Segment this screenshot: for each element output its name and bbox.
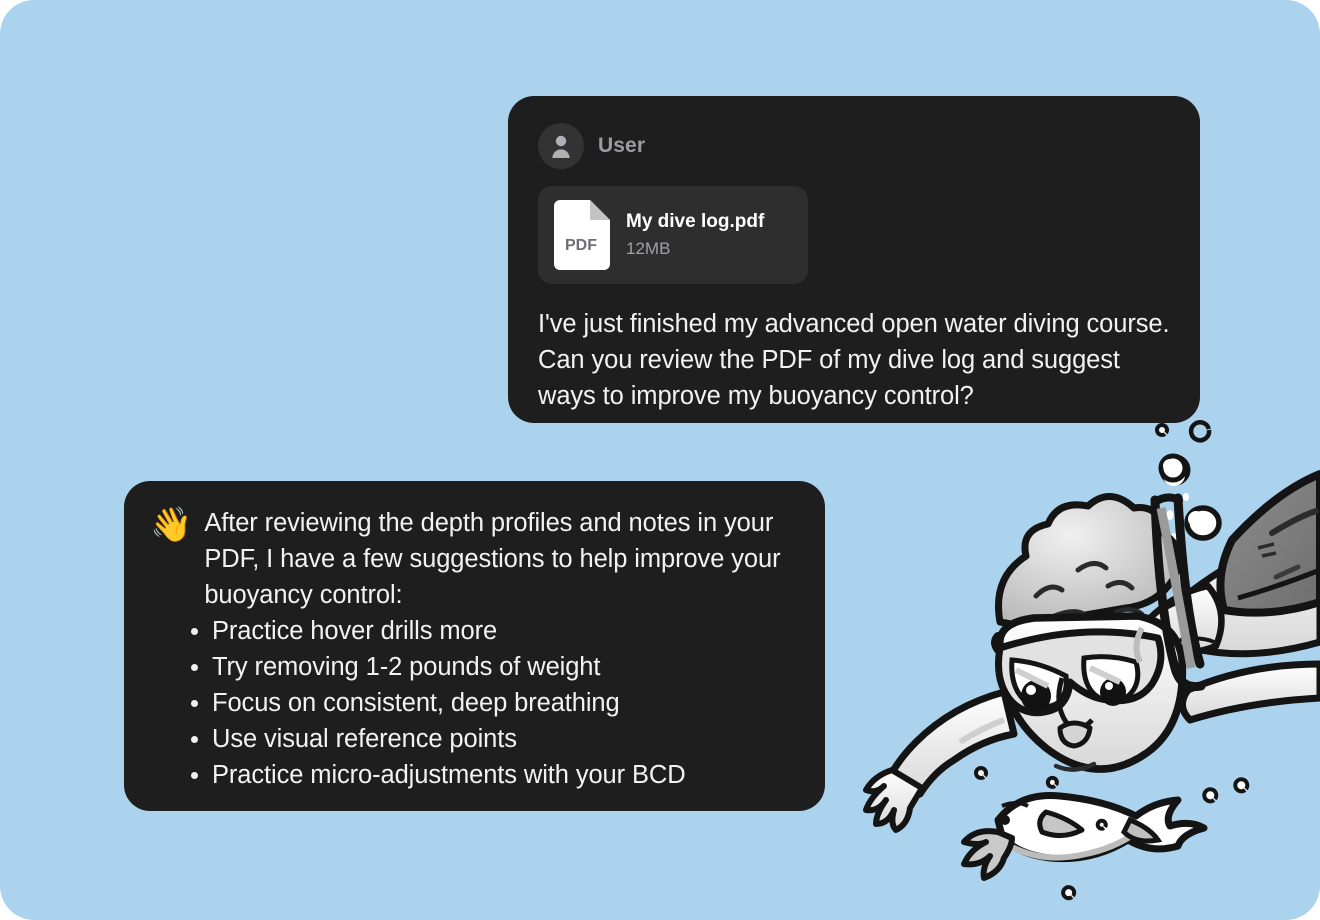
small-bubbles bbox=[976, 425, 1247, 898]
underwater-scene-canvas: User PDF My dive log.pdf 12MB I've just … bbox=[0, 0, 1320, 920]
attachment-chip-pdf[interactable]: PDF My dive log.pdf 12MB bbox=[538, 186, 808, 284]
list-item: Practice hover drills more bbox=[212, 613, 795, 649]
pdf-file-icon: PDF bbox=[554, 200, 610, 270]
attachment-file-size: 12MB bbox=[626, 239, 764, 259]
assistant-intro-row: 👋 After reviewing the depth profiles and… bbox=[150, 505, 795, 613]
list-item: Focus on consistent, deep breathing bbox=[212, 685, 795, 721]
assistant-message-bubble: 👋 After reviewing the depth profiles and… bbox=[124, 481, 825, 811]
message-author-name: User bbox=[598, 134, 645, 158]
waving-hand-emoji: 👋 bbox=[150, 507, 192, 543]
suggestion-list: Practice hover drills more Try removing … bbox=[150, 613, 795, 793]
attachment-file-name: My dive log.pdf bbox=[626, 211, 764, 233]
list-item: Try removing 1-2 pounds of weight bbox=[212, 649, 795, 685]
snorkeler-diver bbox=[866, 474, 1320, 830]
screenshot-stage: User PDF My dive log.pdf 12MB I've just … bbox=[0, 0, 1320, 920]
user-message-bubble: User PDF My dive log.pdf 12MB I've just … bbox=[508, 96, 1200, 423]
svg-text:PDF: PDF bbox=[565, 237, 597, 254]
person-avatar-icon bbox=[538, 123, 584, 169]
user-message-header: User bbox=[538, 122, 1170, 170]
snorkel-bubbles bbox=[1161, 456, 1185, 480]
assistant-intro-text: After reviewing the depth profiles and n… bbox=[204, 505, 795, 613]
list-item: Practice micro-adjustments with your BCD bbox=[212, 757, 795, 793]
user-message-text: I've just finished my advanced open wate… bbox=[538, 306, 1170, 414]
list-item: Use visual reference points bbox=[212, 721, 795, 757]
attachment-meta: My dive log.pdf 12MB bbox=[626, 211, 764, 259]
fish bbox=[964, 796, 1204, 879]
